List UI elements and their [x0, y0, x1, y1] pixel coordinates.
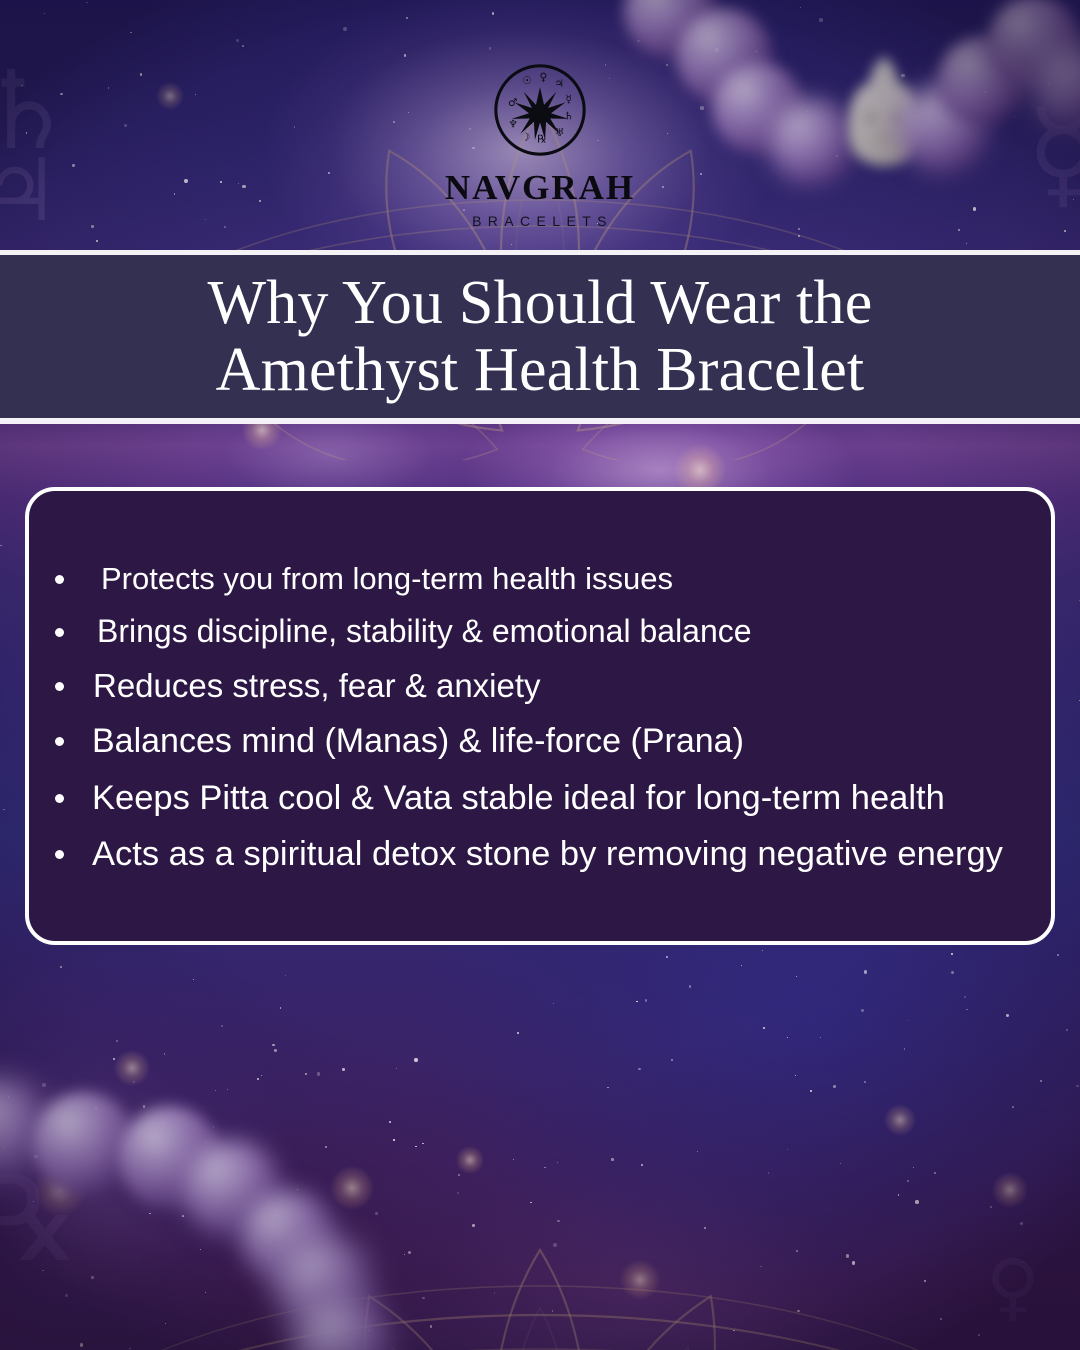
bead: [676, 8, 772, 104]
svg-text:♀: ♀: [539, 72, 547, 84]
bullet-dot-icon: [55, 850, 64, 859]
bead: [0, 1080, 52, 1184]
bead: [938, 36, 1026, 124]
benefit-item: Keeps Pitta cool & Vata stable ideal for…: [55, 776, 1025, 821]
benefit-text: Balances mind (Manas) & life-force (Pran…: [92, 719, 1025, 763]
venus-glyph-watermark-icon: ♀: [986, 1250, 1040, 1324]
bead: [182, 1140, 282, 1240]
svg-text:☉: ☉: [522, 75, 531, 87]
svg-text:♆: ♆: [508, 118, 517, 130]
brand-subtitle: BRACELETS: [390, 214, 690, 228]
benefit-item: Acts as a spiritual detox stone by remov…: [55, 832, 1025, 877]
svg-text:☽: ☽: [521, 132, 530, 144]
brand-name: NAVGRAH: [390, 170, 690, 205]
bullet-dot-icon: [55, 794, 64, 803]
promo-poster: ♄ ♃ ☿ ℞ ♀: [0, 0, 1080, 1350]
bead: [624, 0, 716, 58]
bullet-dot-icon: [55, 628, 64, 637]
bead: [1032, 44, 1080, 128]
svg-text:♃: ♃: [554, 78, 563, 90]
mercury-glyph-watermark-icon: ☿: [1026, 95, 1080, 215]
benefit-item: Brings discipline, stability & emotional…: [55, 611, 1025, 653]
bead: [768, 98, 856, 186]
bead: [274, 1236, 374, 1336]
svg-text:♂: ♂: [508, 97, 517, 109]
benefits-card: Protects you from long-term health issue…: [25, 487, 1055, 945]
bead: [118, 1106, 222, 1210]
saturn-glyph-watermark-icon: ♄: [0, 58, 75, 166]
bead: [898, 82, 990, 174]
navgraha-nine-planet-emblem-icon: ☉ ♀ ♃ ☿ ♄ ♅ ℞ ☽ ♆ ♂: [492, 62, 588, 158]
bead: [712, 62, 804, 154]
bullet-dot-icon: [55, 682, 64, 691]
svg-text:℞: ℞: [537, 134, 546, 146]
svg-text:♄: ♄: [564, 111, 573, 123]
benefit-text: Reduces stress, fear & anxiety: [93, 665, 1025, 708]
rahu-glyph-watermark-icon: ℞: [0, 1160, 80, 1278]
benefit-item: Protects you from long-term health issue…: [55, 559, 1025, 599]
headline-line-2: Amethyst Health Bracelet: [216, 337, 865, 403]
benefit-item: Balances mind (Manas) & life-force (Pran…: [55, 719, 1025, 763]
bead: [988, 0, 1080, 88]
bead: [32, 1092, 136, 1196]
benefit-text: Brings discipline, stability & emotional…: [97, 611, 1025, 653]
benefit-text: Keeps Pitta cool & Vata stable ideal for…: [92, 776, 1025, 821]
buddha-head-charm: [836, 52, 932, 170]
brand-logo: ☉ ♀ ♃ ☿ ♄ ♅ ℞ ☽ ♆ ♂ NAVGRAH BRACELETS: [390, 62, 690, 228]
bullet-dot-icon: [55, 575, 64, 584]
benefit-text: Acts as a spiritual detox stone by remov…: [92, 832, 1025, 877]
svg-text:♅: ♅: [555, 127, 564, 139]
bead: [240, 1190, 336, 1286]
benefit-text: Protects you from long-term health issue…: [101, 559, 1025, 599]
bullet-dot-icon: [55, 737, 64, 746]
svg-text:☿: ☿: [566, 93, 572, 105]
jupiter-glyph-watermark-icon: ♃: [0, 148, 59, 234]
headline-line-1: Why You Should Wear the: [208, 270, 873, 336]
bead: [292, 1296, 392, 1350]
benefit-item: Reduces stress, fear & anxiety: [55, 665, 1025, 708]
headline-band: Why You Should Wear the Amethyst Health …: [0, 250, 1080, 424]
